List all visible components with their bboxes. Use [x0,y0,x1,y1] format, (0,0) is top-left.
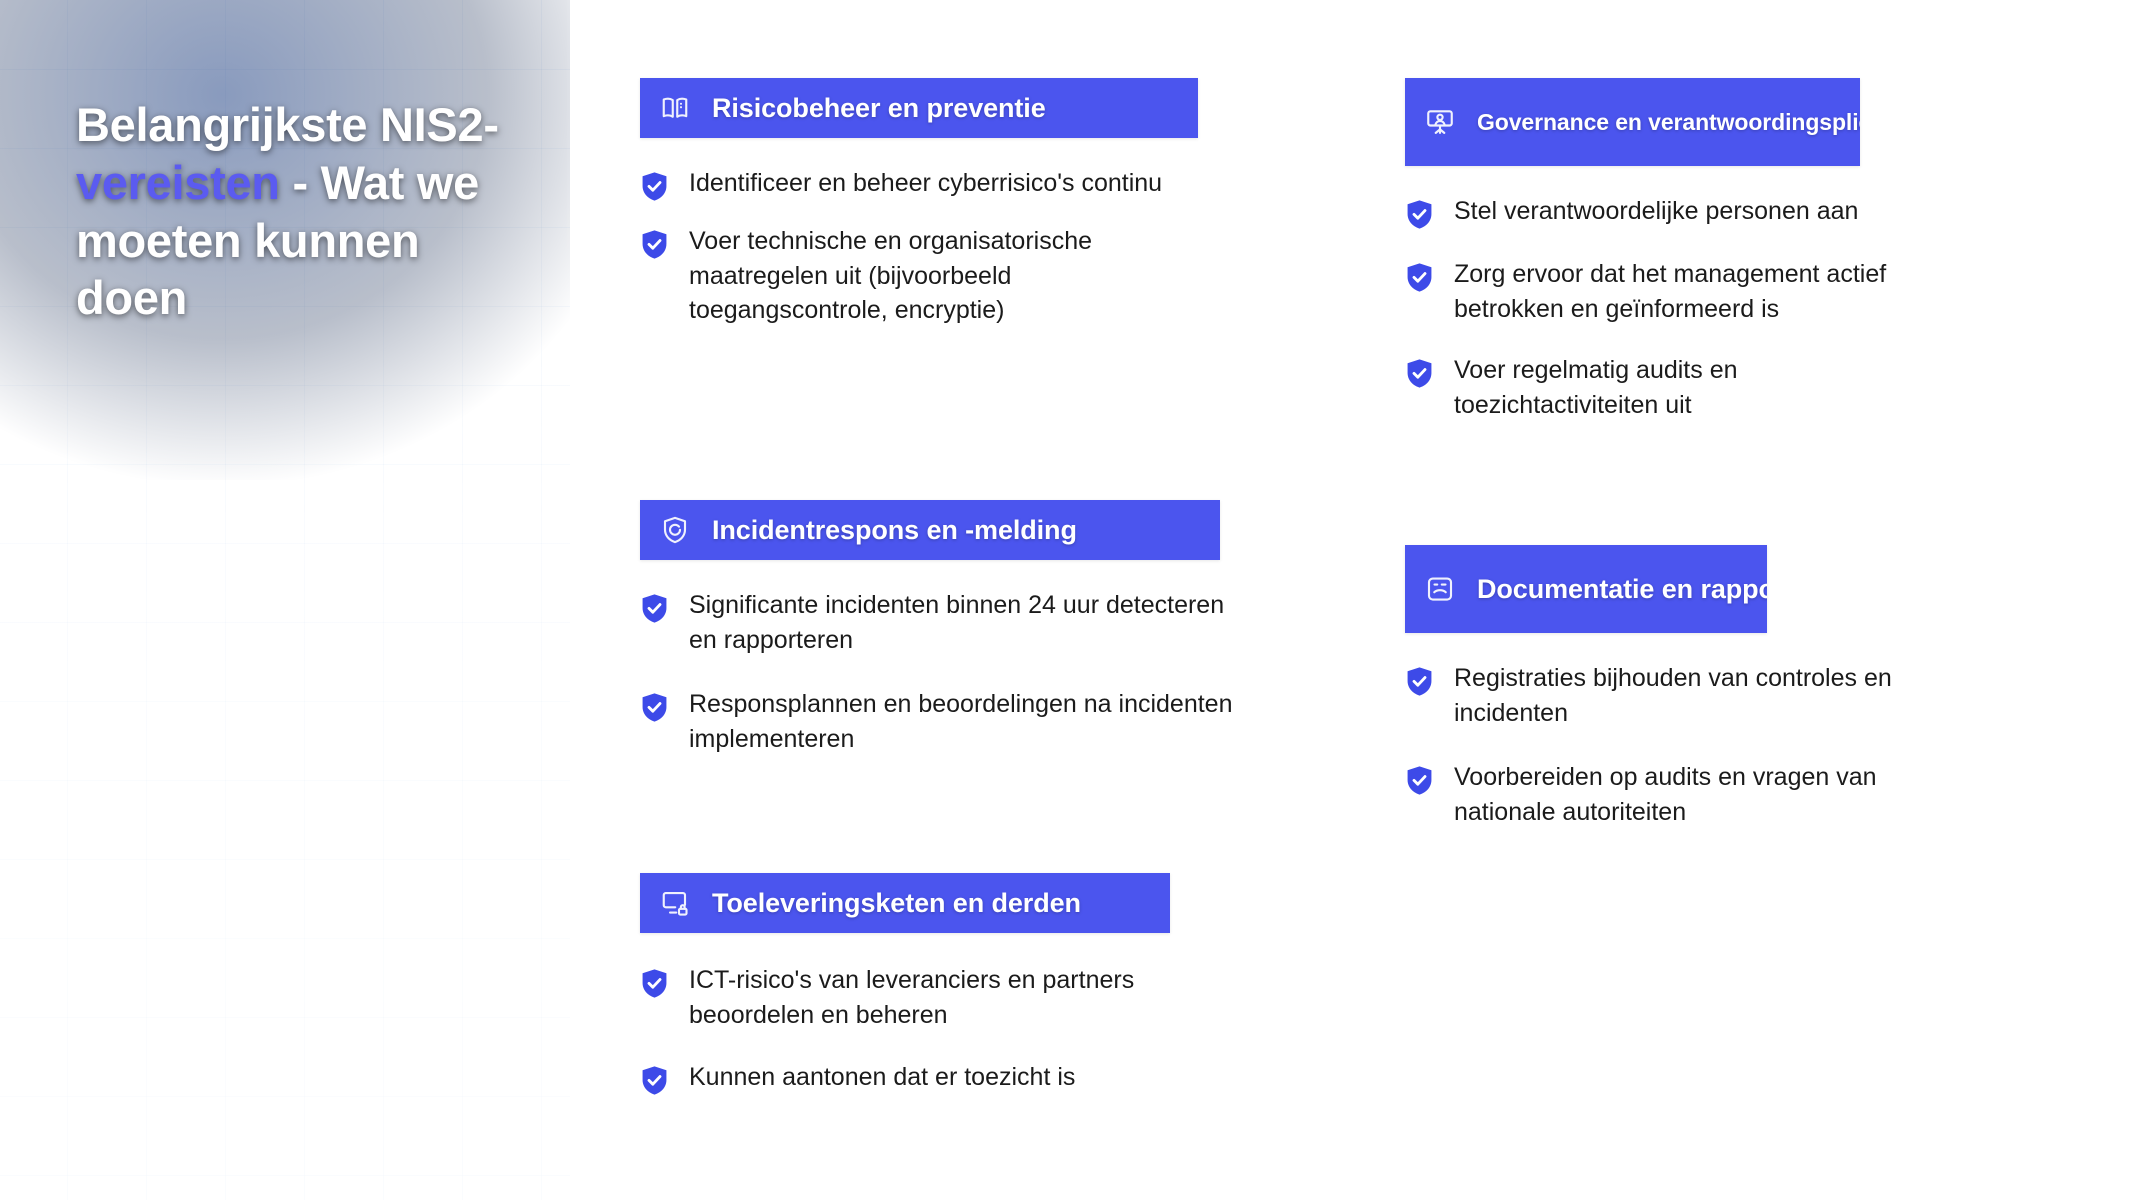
shield-check-badge-icon [1405,262,1434,293]
document-card-icon [1425,574,1455,604]
bullet-list-governance: Stel verantwoordelijke personen aan Zorg… [1405,194,1994,422]
card-header-governance[interactable]: Governance en verantwoordingsplicht [1405,78,1860,166]
card-group-toeleveringsketen: Toeleveringsketen en derden ICT-risico's… [640,873,1240,1096]
shield-check-badge-icon [1405,199,1434,230]
card-group-risicobeheer: Risicobeheer en preventie Identificeer e… [640,78,1209,328]
card-header-toeleveringsketen[interactable]: Toeleveringsketen en derden [640,873,1170,933]
shield-check-badge-icon [640,593,669,624]
list-item-text: Registraties bijhouden van controles en … [1454,661,1994,730]
list-item: Responsplannen en beoordelingen na incid… [640,687,1240,756]
list-item-text: Responsplannen en beoordelingen na incid… [689,687,1240,756]
list-item: Kunnen aantonen dat er toezicht is [640,1060,1240,1096]
list-item-text: Kunnen aantonen dat er toezicht is [689,1060,1075,1095]
column-middle: Risicobeheer en preventie Identificeer e… [640,0,1240,1200]
card-title: Toeleveringsketen en derden [712,890,1081,917]
card-title: Governance en verantwoordingsplicht [1477,111,1860,134]
card-group-documentatie: Documentatie en rapportage Registraties … [1405,545,1994,829]
card-header-documentatie[interactable]: Documentatie en rapportage [1405,545,1767,633]
shield-check-badge-icon [640,229,669,260]
list-item-text: Identificeer en beheer cyberrisico's con… [689,166,1162,201]
list-item-text: Zorg ervoor dat het management actief be… [1454,257,1994,326]
title-panel: Belangrijkste NIS2-vereisten - Wat we mo… [0,0,570,1200]
column-right: Governance en verantwoordingsplicht Stel… [1405,0,2045,1200]
shield-check-badge-icon [640,968,669,999]
list-item-text: ICT-risico's van leveranciers en partner… [689,963,1240,1032]
card-header-incidentrespons[interactable]: Incidentrespons en -melding [640,500,1220,560]
list-item-text: Stel verantwoordelijke personen aan [1454,194,1858,229]
card-group-incidentrespons: Incidentrespons en -melding Significante… [640,500,1240,756]
bullet-list-toeleveringsketen: ICT-risico's van leveranciers en partner… [640,963,1240,1096]
card-title: Documentatie en rapportage [1477,576,1767,603]
card-header-risicobeheer[interactable]: Risicobeheer en preventie [640,78,1198,138]
shield-check-badge-icon [1405,358,1434,389]
page-title: Belangrijkste NIS2-vereisten - Wat we mo… [76,96,506,327]
list-item-text: Voorbereiden op audits en vragen van nat… [1454,760,1984,829]
bullet-list-risicobeheer: Identificeer en beheer cyberrisico's con… [640,166,1209,328]
list-item: Voer technische en organisatorische maat… [640,224,1209,328]
list-item-text: Voer regelmatig audits en toezichtactivi… [1454,353,1804,422]
list-item-text: Voer technische en organisatorische maat… [689,224,1209,328]
presentation-person-icon [1425,107,1455,137]
list-item: Identificeer en beheer cyberrisico's con… [640,166,1209,202]
shield-check-badge-icon [640,692,669,723]
bullet-list-documentatie: Registraties bijhouden van controles en … [1405,661,1994,829]
list-item-text: Significante incidenten binnen 24 uur de… [689,588,1240,657]
title-accent: vereisten [76,156,280,209]
list-item: Zorg ervoor dat het management actief be… [1405,257,1994,326]
slide-root: Belangrijkste NIS2-vereisten - Wat we mo… [0,0,2133,1200]
list-item: Registraties bijhouden van controles en … [1405,661,1994,730]
list-item: ICT-risico's van leveranciers en partner… [640,963,1240,1032]
shield-check-badge-icon [640,171,669,202]
shield-check-badge-icon [1405,666,1434,697]
shield-check-badge-icon [1405,765,1434,796]
list-item: Stel verantwoordelijke personen aan [1405,194,1994,230]
list-item: Voer regelmatig audits en toezichtactivi… [1405,353,1994,422]
list-item: Voorbereiden op audits en vragen van nat… [1405,760,1994,829]
card-title: Risicobeheer en preventie [712,95,1046,122]
shield-check-icon [660,515,690,545]
card-title: Incidentrespons en -melding [712,517,1077,544]
list-item: Significante incidenten binnen 24 uur de… [640,588,1240,657]
bullet-list-incidentrespons: Significante incidenten binnen 24 uur de… [640,588,1240,756]
open-book-icon [660,93,690,123]
panel-edge [567,0,570,1200]
card-group-governance: Governance en verantwoordingsplicht Stel… [1405,78,1994,422]
shield-check-badge-icon [640,1065,669,1096]
title-line-1: Belangrijkste NIS2- [76,98,499,151]
monitor-lock-icon [660,888,690,918]
